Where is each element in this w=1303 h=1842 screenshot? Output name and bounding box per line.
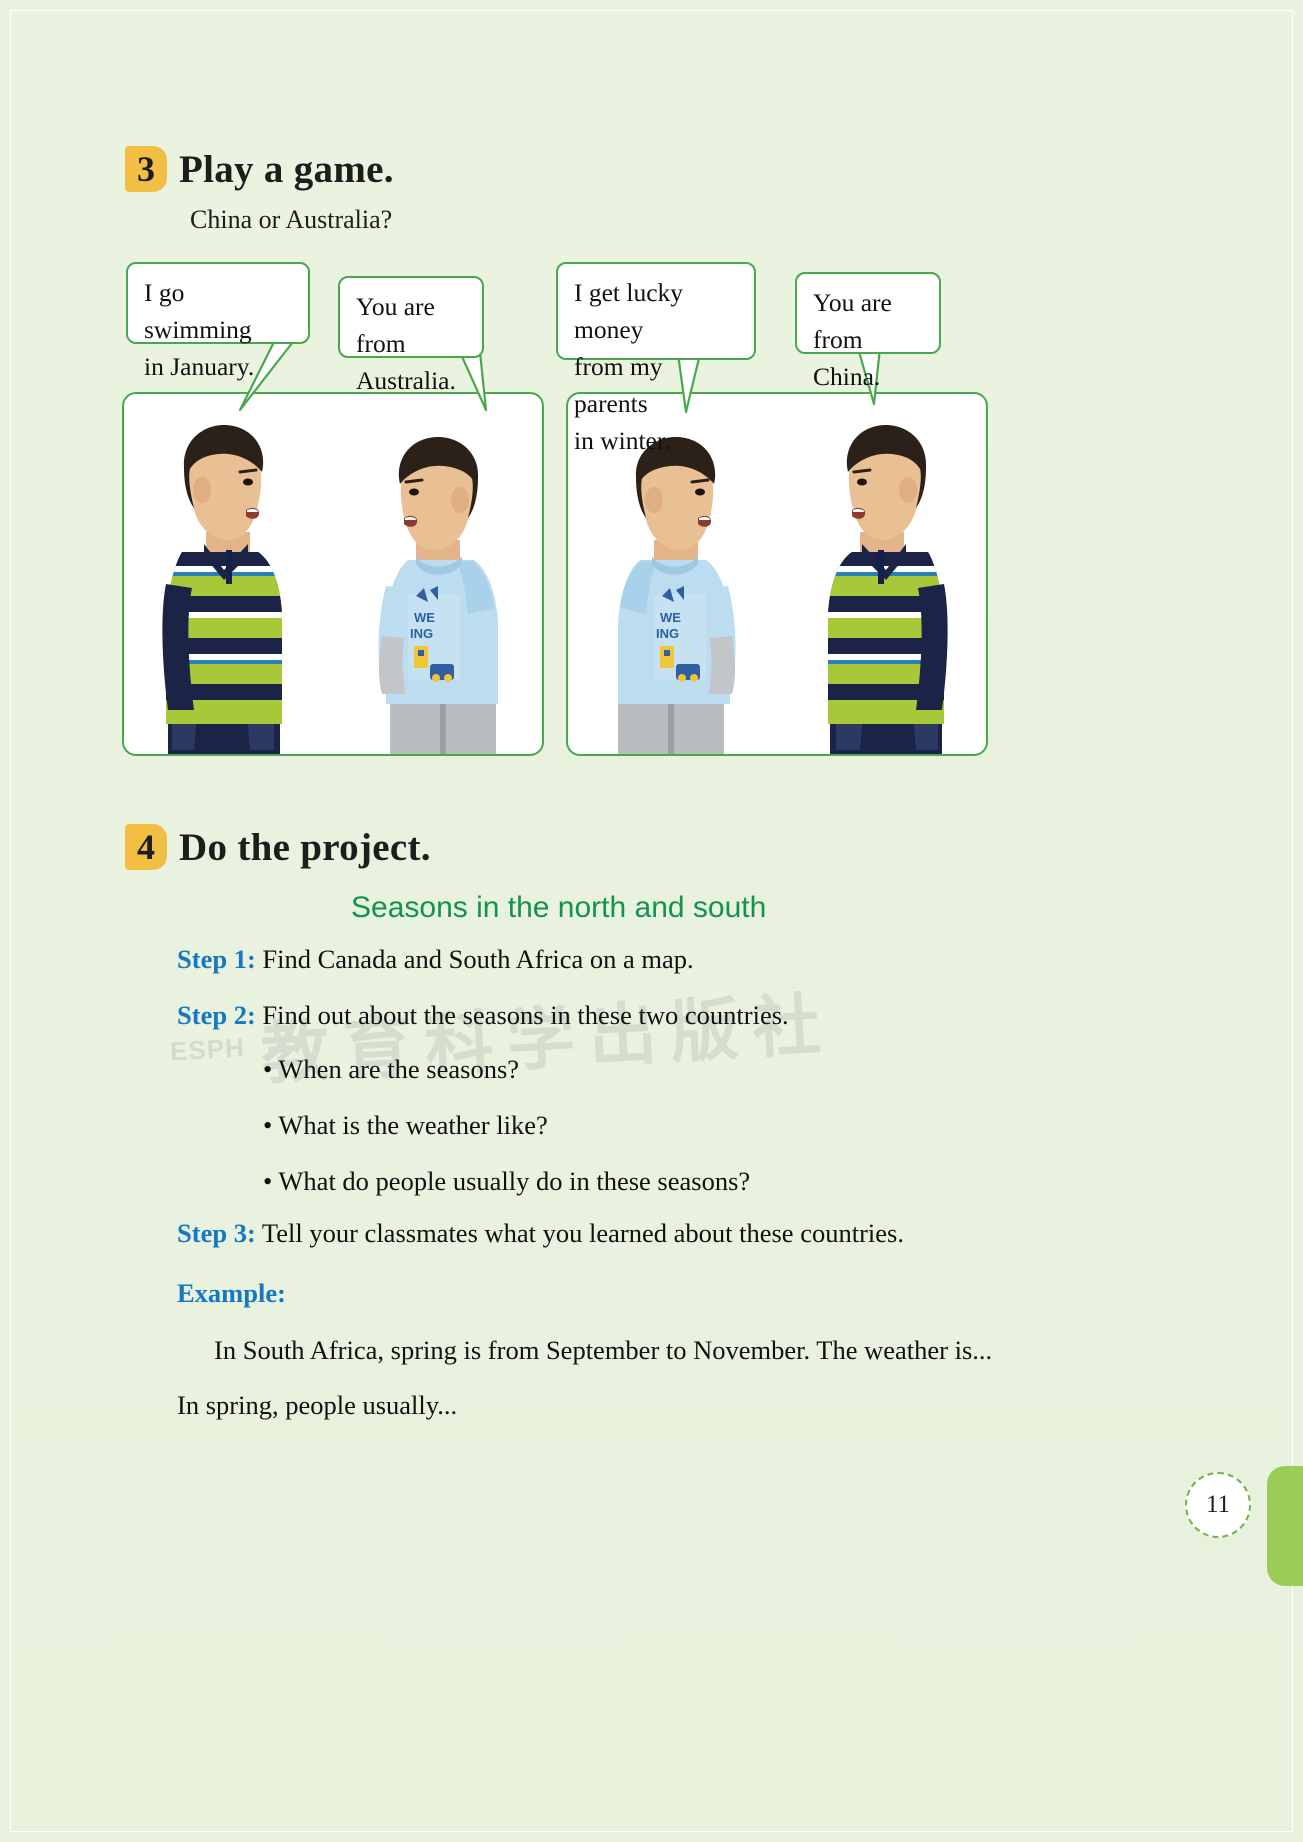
speech-bubble-3-line-2: from my parents: [574, 349, 738, 423]
section-title-4: Do the project.: [179, 825, 431, 870]
example-label: Example:: [177, 1278, 286, 1309]
speech-bubble-4: You are from China.: [795, 272, 941, 354]
svg-text:WE: WE: [414, 610, 435, 625]
section-3-prompt: China or Australia?: [190, 205, 392, 235]
svg-text:ING: ING: [656, 626, 679, 641]
step-1-label: Step 1:: [177, 944, 256, 974]
speech-bubble-2-line-2: Australia.: [356, 363, 466, 400]
step-2-label: Step 2:: [177, 1000, 256, 1030]
boy-striped-shirt-facing-left: [816, 424, 956, 754]
speech-bubble-1: I go swimming in January.: [126, 262, 310, 344]
boy-blue-tshirt-facing-right: WE ING: [602, 436, 742, 754]
step-3-line: Step 3: Tell your classmates what you le…: [177, 1218, 904, 1249]
step-1-line: Step 1: Find Canada and South Africa on …: [177, 944, 694, 975]
project-bullet-2: • What is the weather like?: [263, 1110, 548, 1141]
step-2-text: Find out about the seasons in these two …: [256, 1000, 789, 1030]
project-bullet-3: • What do people usually do in these sea…: [263, 1166, 750, 1197]
svg-text:ING: ING: [410, 626, 433, 641]
project-bullet-1: • When are the seasons?: [263, 1054, 519, 1085]
speech-bubble-1-line-1: I go swimming: [144, 275, 292, 349]
speech-bubble-4-line-2: China.: [813, 359, 923, 396]
section-number-badge-3: 3: [125, 146, 167, 192]
section-heading-4: 4 Do the project.: [125, 824, 431, 870]
speech-bubble-1-line-2: in January.: [144, 349, 292, 386]
step-1-text: Find Canada and South Africa on a map.: [256, 944, 694, 974]
photo-panel-left: WE ING: [122, 392, 544, 756]
step-3-text: Tell your classmates what you learned ab…: [256, 1218, 904, 1248]
section-heading-3: 3 Play a game.: [125, 146, 394, 192]
example-line-2: In spring, people usually...: [177, 1390, 457, 1421]
boy-striped-shirt-facing-right: [154, 424, 294, 754]
step-2-line: Step 2: Find out about the seasons in th…: [177, 1000, 789, 1031]
speech-bubble-2-line-1: You are from: [356, 289, 466, 363]
project-title: Seasons in the north and south: [351, 891, 766, 925]
section-number-badge-4: 4: [125, 824, 167, 870]
svg-text:WE: WE: [660, 610, 681, 625]
speech-bubble-3: I get lucky money from my parents in win…: [556, 262, 756, 360]
page-number-badge: 11: [1185, 1472, 1251, 1538]
speech-bubble-2: You are from Australia.: [338, 276, 484, 358]
speech-bubble-3-line-1: I get lucky money: [574, 275, 738, 349]
page-edge-tab: [1267, 1466, 1303, 1586]
speech-bubble-4-line-1: You are from: [813, 285, 923, 359]
speech-bubble-3-line-3: in winter.: [574, 423, 738, 460]
step-3-label: Step 3:: [177, 1218, 256, 1248]
boy-blue-tshirt-facing-left: WE ING: [372, 436, 512, 754]
example-line-1: In South Africa, spring is from Septembe…: [214, 1335, 992, 1366]
section-title-3: Play a game.: [179, 147, 394, 192]
